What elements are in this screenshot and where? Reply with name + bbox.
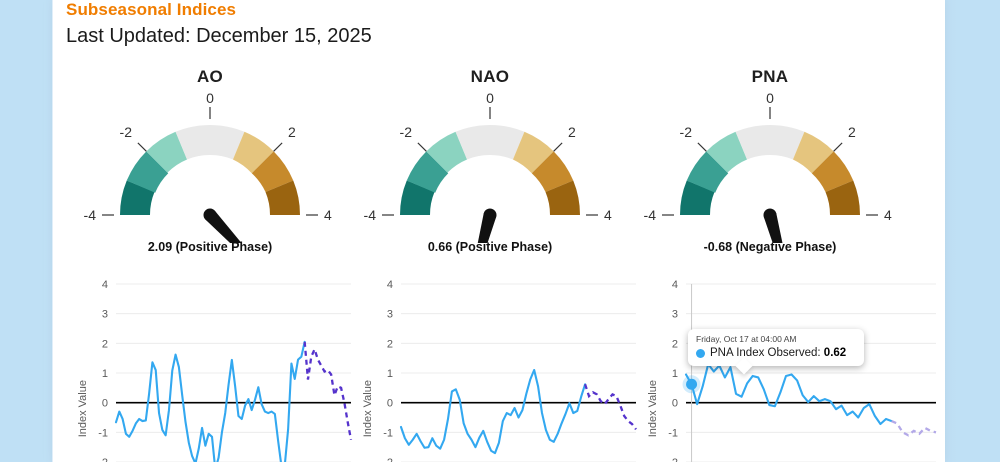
y-axis-tick-label: 4 <box>102 279 108 291</box>
page-title: Subseasonal Indices <box>66 0 372 20</box>
gauge-value-nao: 0.66 (Positive Phase) <box>350 240 630 254</box>
gauge-title-pna: PNA <box>630 67 910 87</box>
gauge-tick-pna-2: 0 <box>766 93 774 106</box>
y-axis-tick-label: 2 <box>387 338 393 350</box>
gauge-tick-nao-2: 0 <box>486 93 494 106</box>
tooltip-series-value: 0.62 <box>824 347 846 359</box>
page-header: Subseasonal Indices Last Updated: Decemb… <box>66 0 372 49</box>
gauge-card-pna: PNA <box>630 62 910 274</box>
gauge-needle-pna <box>762 207 798 243</box>
gauge-arc-segments-pna <box>680 125 860 215</box>
forecast-series-line <box>585 384 636 429</box>
gauge-tick-nao-0: -4 <box>364 207 377 223</box>
gauge-tick-ao-1: -2 <box>120 124 133 140</box>
observed-series-line <box>401 370 585 453</box>
y-axis-tick-label: 4 <box>387 279 393 291</box>
gauge-tick-nao-1: -2 <box>400 124 413 140</box>
gauge-value-pna: -0.68 (Negative Phase) <box>630 240 910 254</box>
gauge-needle-ao <box>201 206 272 243</box>
gauge-card-ao: AO <box>70 62 350 274</box>
tooltip-date: Friday, Oct 17 at 04:00 AM <box>696 334 856 345</box>
tooltip-series-row: PNA Index Observed: 0.62 <box>696 347 856 360</box>
tooltip-series-text: PNA Index Observed: 0.62 <box>710 347 846 360</box>
gauge-title-nao: NAO <box>350 67 630 87</box>
tooltip-series-dot-icon <box>696 349 705 358</box>
gauge-arc-segments-ao <box>120 125 300 215</box>
gauge-tick-ao-0: -4 <box>84 207 97 223</box>
y-axis-title: Index Value <box>362 380 374 437</box>
forecast-series-line <box>305 342 351 440</box>
y-axis-tick-label: -1 <box>383 427 393 439</box>
gauge-row: AO <box>52 62 945 274</box>
y-axis-tick-label: -1 <box>668 427 678 439</box>
y-axis-tick-label: 1 <box>102 368 108 380</box>
gauge-tick-ao-3: 2 <box>288 124 296 140</box>
y-axis-tick-label: -2 <box>668 457 678 462</box>
content-panel: Subseasonal Indices Last Updated: Decemb… <box>52 0 945 462</box>
gauge-needle-nao <box>462 207 498 243</box>
gauge-chart-nao: -4 -2 0 2 4 <box>360 93 620 243</box>
y-axis-tick-label: 3 <box>102 309 108 321</box>
y-axis-tick-label: -2 <box>383 457 393 462</box>
chart-tooltip: Friday, Oct 17 at 04:00 AM PNA Index Obs… <box>688 329 864 366</box>
gauge-tick-pna-3: 2 <box>848 124 856 140</box>
gauge-tick-pna-4: 4 <box>884 207 892 223</box>
timeseries-chart-nao[interactable]: 43210-1-2Index Value <box>357 276 642 462</box>
y-axis-tick-label: 3 <box>387 309 393 321</box>
panel-right-shadow <box>945 0 959 462</box>
y-axis-tick-label: 4 <box>672 279 678 291</box>
gauge-value-ao: 2.09 (Positive Phase) <box>70 240 350 254</box>
gauge-tick-nao-4: 4 <box>604 207 612 223</box>
y-axis-tick-label: -2 <box>98 457 108 462</box>
gauge-arc-segments-nao <box>400 125 580 215</box>
y-axis-tick-label: 1 <box>387 368 393 380</box>
gauge-tick-ao-4: 4 <box>324 207 332 223</box>
gauge-card-nao: NAO <box>350 62 630 274</box>
gauge-tick-pna-1: -2 <box>680 124 693 140</box>
timeseries-chart-pna[interactable]: 43210-1-2Index Value <box>642 276 927 462</box>
y-axis-tick-label: 0 <box>387 398 393 410</box>
y-axis-tick-label: 0 <box>102 398 108 410</box>
gauge-tick-nao-3: 2 <box>568 124 576 140</box>
y-axis-title: Index Value <box>77 380 89 437</box>
last-updated-text: Last Updated: December 15, 2025 <box>66 23 372 49</box>
y-axis-tick-label: 3 <box>672 309 678 321</box>
y-axis-tick-label: -1 <box>98 427 108 439</box>
gauge-tick-ao-2: 0 <box>206 93 214 106</box>
gauge-tick-pna-0: -4 <box>644 207 657 223</box>
y-axis-tick-label: 2 <box>102 338 108 350</box>
gauge-title-ao: AO <box>70 67 350 87</box>
y-axis-title: Index Value <box>647 380 659 437</box>
gauge-chart-ao: -4 -2 0 2 4 <box>80 93 340 243</box>
y-axis-tick-label: 1 <box>672 368 678 380</box>
gauge-chart-pna: -4 -2 0 2 4 <box>640 93 900 243</box>
page-root: Subseasonal Indices Last Updated: Decemb… <box>0 0 1000 462</box>
forecast-series-line <box>892 421 936 435</box>
tooltip-series-label: PNA Index Observed: <box>710 347 821 359</box>
y-axis-tick-label: 0 <box>672 398 678 410</box>
timeseries-row: 43210-1-2Index Value 43210-1-2Index Valu… <box>52 276 945 462</box>
hover-point-marker <box>686 379 697 390</box>
timeseries-chart-ao[interactable]: 43210-1-2Index Value <box>72 276 357 462</box>
y-axis-tick-label: 2 <box>672 338 678 350</box>
